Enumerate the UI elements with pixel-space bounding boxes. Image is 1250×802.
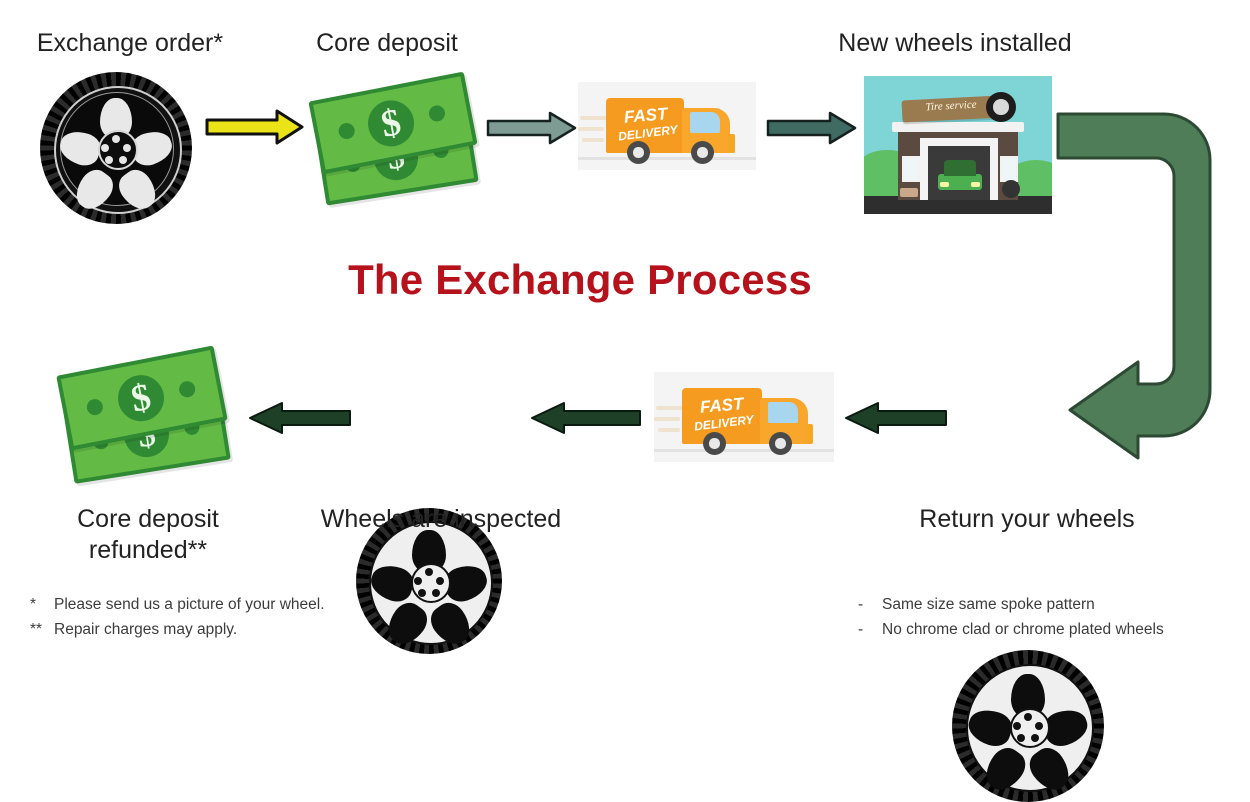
footnote-marker: - [858,592,882,617]
arrow-shipping-to-shop [766,110,858,146]
money-icon-core-deposit: $ $ [312,78,482,202]
footnote-text: Same size same spoke pattern [882,596,1095,613]
footnote-text: Repair charges may apply. [54,621,237,638]
arrow-deposit-to-shipping [486,110,578,146]
label-new-wheels-installed: New wheels installed [800,28,1110,59]
delivery-truck-icon-outbound: FAST DELIVERY [578,82,756,170]
tire-shop-icon: Tire service [864,76,1052,214]
sign-tire-icon [986,92,1016,122]
footnote-right-item: -Same size same spoke pattern [858,592,1250,617]
footnotes-left: *Please send us a picture of your wheel.… [30,592,460,642]
label-return-your-wheels: Return your wheels [892,504,1162,535]
page-title: The Exchange Process [275,256,885,304]
arrow-inspected-to-refund [246,400,352,436]
money-icon-refund: $ $ [58,352,238,480]
arrow-curved-return [1052,104,1248,464]
footnote-marker: ** [30,617,54,642]
label-exchange-order: Exchange order* [0,28,260,59]
arrow-order-to-deposit [205,108,305,146]
wheel-icon-return [952,650,1104,802]
arrow-return-to-shipping [842,400,948,436]
label-wheels-inspected: Wheels are inspected [296,504,586,535]
footnote-left-item: **Repair charges may apply. [30,617,460,642]
arrow-shipping-to-inspection [528,400,642,436]
dollar-sign-icon: $ [364,96,418,150]
footnotes-right: -Same size same spoke pattern -No chrome… [858,592,1250,642]
label-core-deposit-refunded: Core deposit refunded** [22,504,274,566]
footnote-right-item: -No chrome clad or chrome plated wheels [858,617,1250,642]
delivery-truck-icon-return: FAST DELIVERY [654,372,834,462]
footnote-marker: * [30,592,54,617]
footnote-text: Please send us a picture of your wheel. [54,596,325,613]
exchange-process-diagram: Exchange order* Core deposit New wheels … [0,0,1250,666]
footnote-text: No chrome clad or chrome plated wheels [882,621,1164,638]
footnote-marker: - [858,617,882,642]
label-core-deposit: Core deposit [272,28,502,59]
wheel-icon-exchange-order [40,72,192,224]
dollar-sign-icon: $ [114,371,168,425]
footnote-left-item: *Please send us a picture of your wheel. [30,592,460,617]
